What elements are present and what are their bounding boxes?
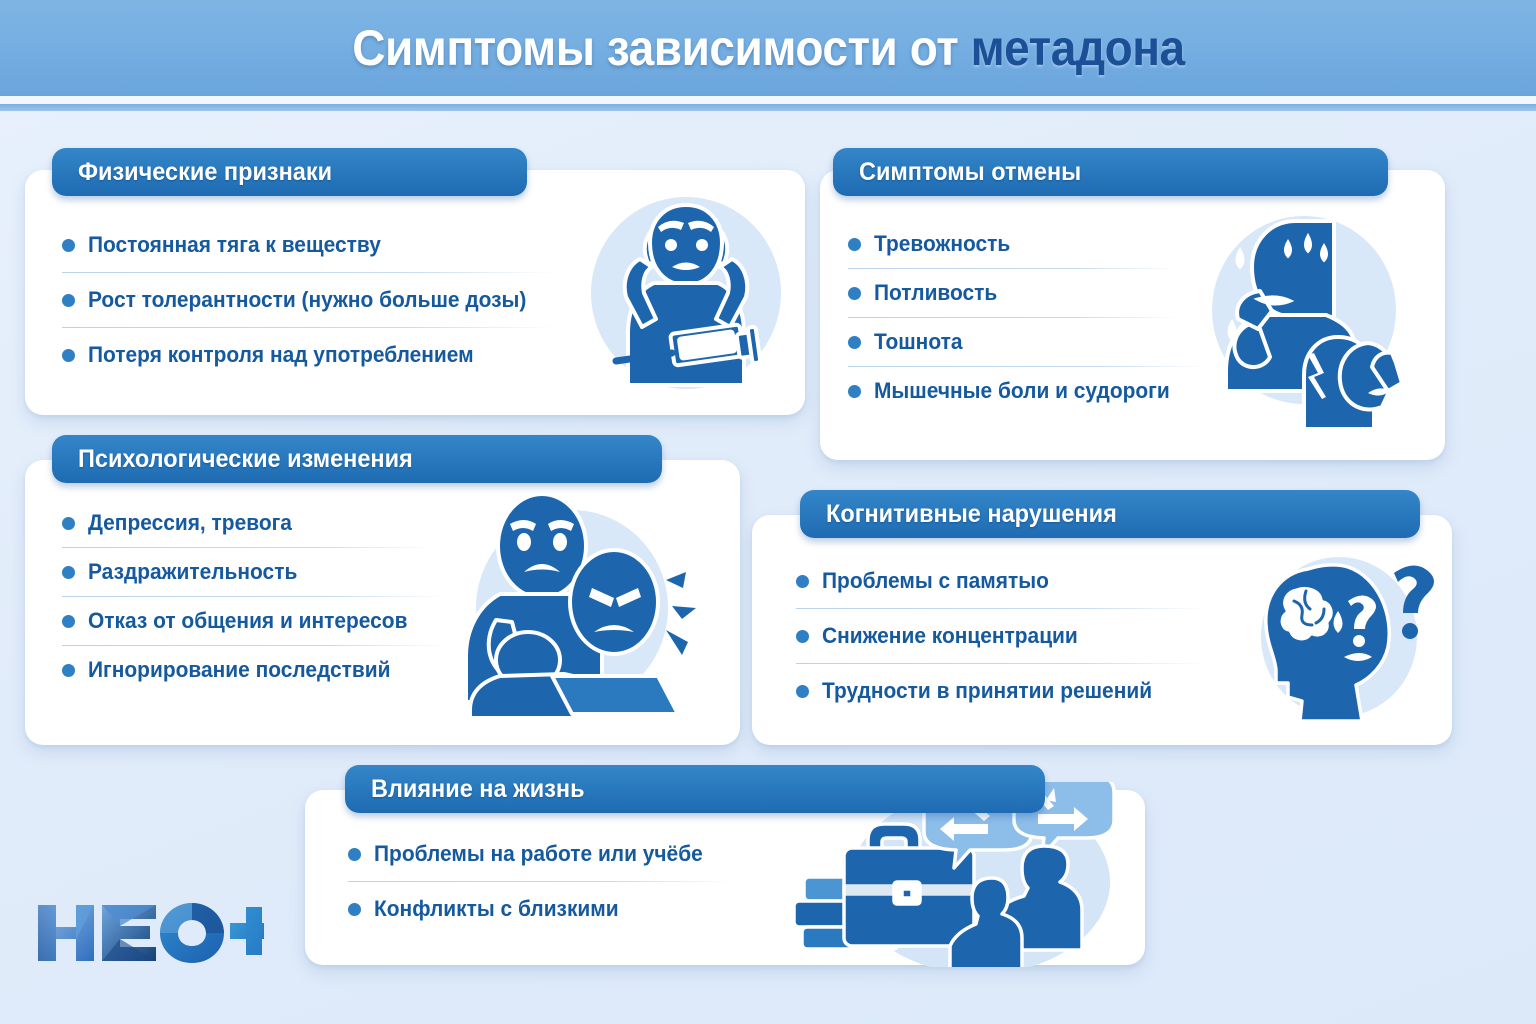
list-item-label: Потеря контроля над употреблением <box>88 342 474 368</box>
list-divider <box>348 881 733 882</box>
list-item-label: Игнорирование последствий <box>88 657 390 683</box>
list-psychological-changes: Депрессия, тревога Раздражительность Отк… <box>62 508 462 685</box>
list-divider <box>796 663 1206 664</box>
list-item[interactable]: Отказ от общения и интересов <box>62 606 462 636</box>
page-title: Симптомы зависимости от метадона <box>352 19 1184 77</box>
list-item-label: Мышечные боли и судороги <box>874 378 1170 404</box>
list-item-label: Рост толерантности (нужно больше дозы) <box>88 287 526 313</box>
list-divider <box>848 366 1208 367</box>
list-item[interactable]: Тошнота <box>848 326 1238 358</box>
bullet-dot-icon <box>62 349 75 362</box>
list-divider <box>62 327 557 328</box>
bullet-dot-icon <box>848 336 861 349</box>
list-divider <box>848 317 1178 318</box>
card-title-cognitive-impairment: Когнитивные нарушения <box>826 500 1117 529</box>
list-item[interactable]: Рост толерантности (нужно больше дозы) <box>62 283 567 317</box>
list-physical-signs: Постоянная тяга к веществу Рост толерант… <box>62 228 567 372</box>
list-divider <box>62 547 432 548</box>
list-item[interactable]: Конфликты с близкими <box>348 893 748 925</box>
bullet-dot-icon <box>348 848 361 861</box>
list-item[interactable]: Снижение концентрации <box>796 620 1226 652</box>
bullet-dot-icon <box>62 294 75 307</box>
list-item-label: Проблемы с памятыо <box>822 568 1049 594</box>
list-item-label: Постоянная тяга к веществу <box>88 232 381 258</box>
bullet-dot-icon <box>62 566 75 579</box>
list-divider <box>62 645 447 646</box>
page-title-main: Симптомы зависимости от <box>352 20 970 76</box>
list-item-label: Проблемы на работе или учёбе <box>374 841 703 867</box>
list-cognitive-impairment: Проблемы с памятыо Снижение концентрации… <box>796 565 1226 707</box>
card-header-psychological-changes: Психологические изменения <box>52 435 662 483</box>
header-divider-blue <box>0 104 1536 111</box>
list-item[interactable]: Мышечные боли и судороги <box>848 375 1238 407</box>
list-divider <box>848 268 1178 269</box>
card-header-withdrawal-symptoms: Симптомы отмены <box>833 148 1388 196</box>
list-item[interactable]: Тревожность <box>848 228 1238 260</box>
list-item[interactable]: Постоянная тяга к веществу <box>62 228 567 262</box>
list-item[interactable]: Проблемы с памятыо <box>796 565 1226 597</box>
card-title-psychological-changes: Психологические изменения <box>78 445 413 474</box>
bullet-dot-icon <box>848 238 861 251</box>
list-item-label: Тревожность <box>874 231 1010 257</box>
list-item[interactable]: Потеря контроля над употреблением <box>62 338 567 372</box>
header-divider-white <box>0 96 1536 104</box>
bullet-dot-icon <box>62 517 75 530</box>
list-item-label: Конфликты с близкими <box>374 896 619 922</box>
bullet-dot-icon <box>62 239 75 252</box>
bullet-dot-icon <box>796 575 809 588</box>
list-item-label: Отказ от общения и интересов <box>88 608 407 634</box>
card-header-physical-signs: Физические признаки <box>52 148 527 196</box>
page-title-accent: метадона <box>970 20 1184 76</box>
list-withdrawal-symptoms: Тревожность Потливость Тошнота Мышечные … <box>848 228 1238 407</box>
neo-plus-logo <box>34 893 264 971</box>
list-item[interactable]: Раздражительность <box>62 557 462 587</box>
bullet-dot-icon <box>62 664 75 677</box>
list-item-label: Раздражительность <box>88 559 297 585</box>
card-title-withdrawal-symptoms: Симптомы отмены <box>859 158 1081 187</box>
bullet-dot-icon <box>848 385 861 398</box>
list-item-label: Депрессия, тревога <box>88 510 292 536</box>
bullet-dot-icon <box>796 685 809 698</box>
bullet-dot-icon <box>796 630 809 643</box>
list-item-label: Снижение концентрации <box>822 623 1078 649</box>
card-title-physical-signs: Физические признаки <box>78 158 332 187</box>
list-item[interactable]: Депрессия, тревога <box>62 508 462 538</box>
list-item[interactable]: Проблемы на работе или учёбе <box>348 838 748 870</box>
list-divider <box>62 272 557 273</box>
list-life-impact: Проблемы на работе или учёбе Конфликты с… <box>348 838 748 925</box>
card-header-life-impact: Влияние на жизнь <box>345 765 1045 813</box>
card-header-cognitive-impairment: Когнитивные нарушения <box>800 490 1420 538</box>
bullet-dot-icon <box>848 287 861 300</box>
list-item-label: Трудности в принятии решений <box>822 678 1152 704</box>
page-header: Симптомы зависимости от метадона <box>0 0 1536 96</box>
list-divider <box>796 608 1206 609</box>
bullet-dot-icon <box>348 903 361 916</box>
list-item[interactable]: Игнорирование последствий <box>62 655 462 685</box>
bullet-dot-icon <box>62 615 75 628</box>
card-title-life-impact: Влияние на жизнь <box>371 775 585 804</box>
list-item[interactable]: Потливость <box>848 277 1238 309</box>
list-item[interactable]: Трудности в принятии решений <box>796 675 1226 707</box>
list-item-label: Потливость <box>874 280 997 306</box>
list-divider <box>62 596 447 597</box>
list-item-label: Тошнота <box>874 329 962 355</box>
